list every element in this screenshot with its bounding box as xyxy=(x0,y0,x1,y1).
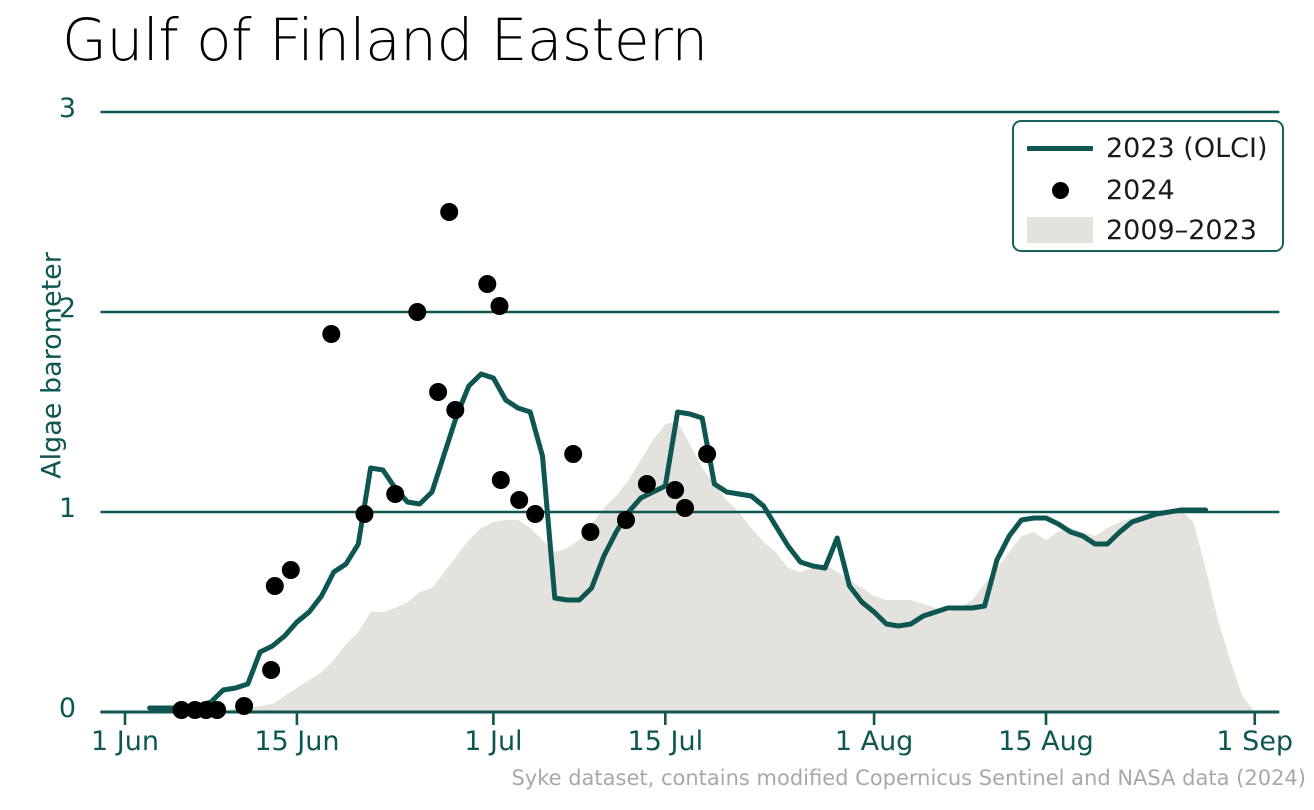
legend-line-swatch xyxy=(1014,146,1106,151)
climatology-area xyxy=(199,422,1255,712)
legend-patch-swatch xyxy=(1014,217,1106,243)
scatter-point xyxy=(440,203,458,221)
legend[interactable]: 2023 (OLCI) 2024 2009–2023 xyxy=(1012,120,1284,252)
scatter-point xyxy=(282,561,300,579)
scatter-point xyxy=(235,697,253,715)
legend-dot-swatch xyxy=(1014,182,1106,199)
scatter-point xyxy=(698,445,716,463)
scatter-point xyxy=(386,485,404,503)
legend-label: 2023 (OLCI) xyxy=(1106,133,1267,164)
scatter-point xyxy=(564,445,582,463)
x-tick-label: 15 Aug xyxy=(998,726,1094,757)
x-tick-label: 1 Sep xyxy=(1216,726,1293,757)
scatter-point xyxy=(492,471,510,489)
legend-item-climatology[interactable]: 2009–2023 xyxy=(1014,208,1282,252)
legend-label: 2009–2023 xyxy=(1106,215,1257,246)
y-tick-label: 0 xyxy=(36,693,76,724)
scatter-point xyxy=(617,511,635,529)
scatter-point xyxy=(638,475,656,493)
legend-item-2024[interactable]: 2024 xyxy=(1014,168,1282,212)
scatter-point xyxy=(356,505,374,523)
legend-label: 2024 xyxy=(1106,175,1175,206)
climatology-band xyxy=(199,422,1255,712)
source-caption: Syke dataset, contains modified Copernic… xyxy=(511,766,1306,790)
x-tick-marks xyxy=(125,712,1255,725)
y-axis-label: Algae barometer xyxy=(37,236,68,496)
x-tick-label: 1 Jul xyxy=(464,726,522,757)
scatter-point xyxy=(510,491,528,509)
scatter-point xyxy=(478,275,496,293)
scatter-point xyxy=(266,577,284,595)
scatter-point xyxy=(676,499,694,517)
scatter-point xyxy=(581,523,599,541)
scatter-point xyxy=(429,383,447,401)
scatter-point xyxy=(491,297,509,315)
chart-root: Gulf of Finland Eastern 0123 1 Jun15 Jun… xyxy=(0,0,1314,810)
x-tick-label: 15 Jul xyxy=(628,726,704,757)
scatter-point xyxy=(262,661,280,679)
scatter-point xyxy=(526,505,544,523)
x-tick-label: 15 Jun xyxy=(254,726,339,757)
legend-item-2023[interactable]: 2023 (OLCI) xyxy=(1014,126,1282,170)
scatter-point xyxy=(408,303,426,321)
y-tick-label: 3 xyxy=(36,93,76,124)
scatter-point xyxy=(322,325,340,343)
scatter-point xyxy=(666,481,684,499)
x-tick-label: 1 Aug xyxy=(835,726,913,757)
x-tick-label: 1 Jun xyxy=(91,726,159,757)
scatter-point xyxy=(446,401,464,419)
scatter-point xyxy=(208,701,226,719)
y-tick-label: 1 xyxy=(36,493,76,524)
